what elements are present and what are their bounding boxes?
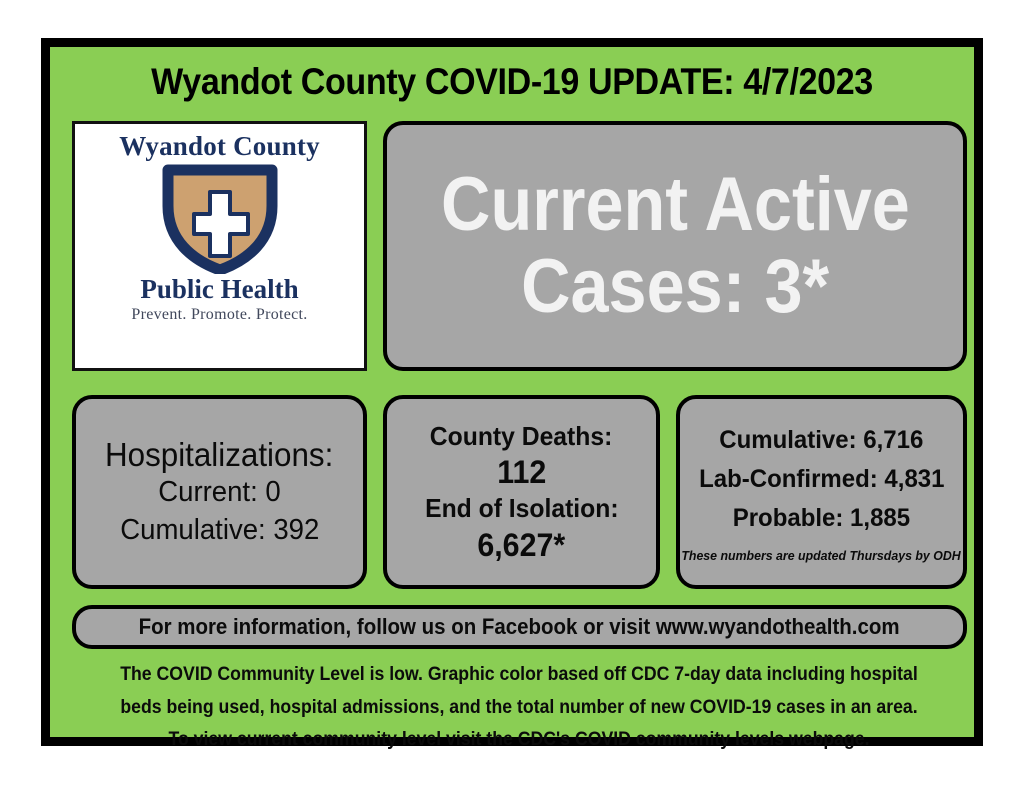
end-of-isolation-value: 6,627* <box>478 525 566 565</box>
disclaimer-line-3: To view current community level visit th… <box>111 724 928 757</box>
cases-update-note: These numbers are updated Thursdays by O… <box>682 548 961 563</box>
cases-probable: Probable: 1,885 <box>733 506 910 531</box>
cases-cumulative: Cumulative: 6,716 <box>719 428 923 453</box>
cases-lab-confirmed: Lab-Confirmed: 4,831 <box>699 467 944 492</box>
county-deaths-label: County Deaths: <box>430 420 613 453</box>
deaths-isolation-panel: County Deaths: 112 End of Isolation: 6,6… <box>383 395 660 589</box>
shield-cross-icon <box>159 162 281 274</box>
covid-update-poster: Wyandot County COVID-19 UPDATE: 4/7/2023… <box>41 38 983 746</box>
logo-bottom-text: Public Health <box>140 275 298 303</box>
county-deaths-value: 112 <box>497 452 546 492</box>
active-cases-line1: Current Active <box>441 164 910 246</box>
hospitalizations-cumulative: Cumulative: 392 <box>120 512 319 550</box>
active-cases-line2: Cases: 3* <box>521 246 829 328</box>
more-information-text: For more information, follow us on Faceb… <box>139 614 900 640</box>
logo-top-text: Wyandot County <box>119 132 320 160</box>
disclaimer-line-1: The COVID Community Level is low. Graphi… <box>111 659 928 692</box>
hospitalizations-current: Current: 0 <box>158 474 281 512</box>
hospitalizations-panel: Hospitalizations: Current: 0 Cumulative:… <box>72 395 367 589</box>
community-level-disclaimer: The COVID Community Level is low. Graphi… <box>80 659 958 757</box>
more-information-bar[interactable]: For more information, follow us on Faceb… <box>72 605 967 649</box>
agency-logo-card: Wyandot County Public Health Prevent. Pr… <box>72 121 367 371</box>
disclaimer-line-2: beds being used, hospital admissions, an… <box>111 692 928 725</box>
hospitalizations-heading: Hospitalizations: <box>105 435 333 475</box>
logo-tagline: Prevent. Promote. Protect. <box>131 306 307 324</box>
page-title: Wyandot County COVID-19 UPDATE: 4/7/2023 <box>87 61 937 103</box>
case-totals-panel: Cumulative: 6,716 Lab-Confirmed: 4,831 P… <box>676 395 967 589</box>
active-cases-panel: Current Active Cases: 3* <box>383 121 967 371</box>
end-of-isolation-label: End of Isolation: <box>425 492 618 525</box>
